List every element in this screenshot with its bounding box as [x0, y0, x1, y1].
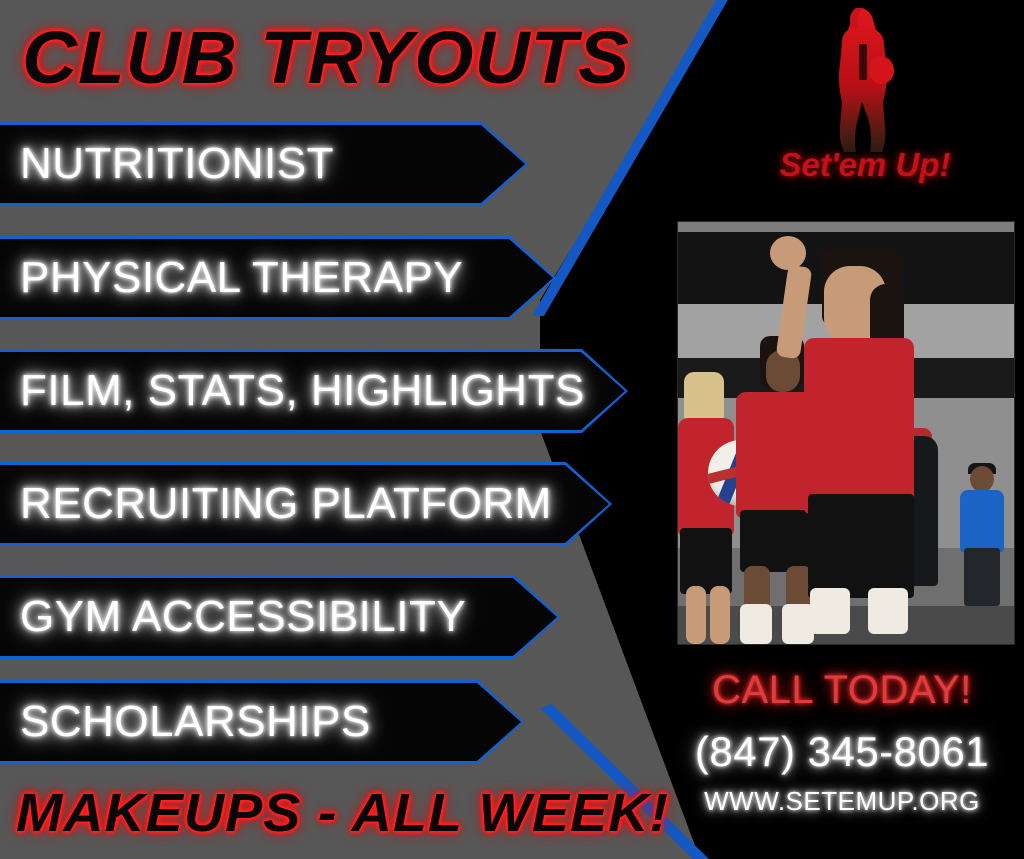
player-shorts	[808, 494, 914, 598]
referee-shirt	[960, 490, 1004, 552]
service-label: RECRUITING PLATFORM	[20, 479, 552, 529]
logo-caption: Set'em Up!	[740, 146, 990, 184]
service-label: PHYSICAL THERAPY	[20, 253, 463, 303]
club-logo: Set'em Up!	[740, 6, 990, 202]
player-jersey-front	[804, 338, 914, 514]
player-shorts	[740, 510, 818, 572]
service-label: GYM ACCESSIBILITY	[20, 592, 466, 642]
service-banner-nutritionist[interactable]: NUTRITIONIST	[0, 122, 528, 206]
website-url[interactable]: WWW.SETEMUP.ORG	[660, 786, 1024, 817]
footer-makeups-all-week: MAKEUPS - ALL WEEK!	[16, 784, 669, 842]
service-label: SCHOLARSHIPS	[20, 697, 371, 747]
club-tryouts-flyer: CLUB TRYOUTS NUTRITIONIST PHYSICAL THERA…	[0, 0, 1024, 859]
service-banner-physical-therapy[interactable]: PHYSICAL THERAPY	[0, 236, 556, 320]
service-banner-recruiting-platform[interactable]: RECRUITING PLATFORM	[0, 462, 612, 546]
volleyball-player-silhouette-icon	[818, 6, 914, 152]
knee-pad	[868, 588, 908, 634]
player-shorts	[680, 528, 732, 594]
service-banner-film-stats-highlights[interactable]: FILM, STATS, HIGHLIGHTS	[0, 349, 628, 433]
phone-number[interactable]: (847) 345-8061	[660, 728, 1024, 776]
volleyball-team-action-photo	[678, 222, 1014, 644]
referee-pants	[964, 548, 1000, 606]
service-banner-scholarships[interactable]: SCHOLARSHIPS	[0, 680, 524, 764]
knee-pad	[740, 604, 772, 644]
service-label: NUTRITIONIST	[20, 139, 334, 189]
call-today-heading: CALL TODAY!	[660, 668, 1024, 713]
headline-club-tryouts: CLUB TRYOUTS	[22, 18, 630, 98]
referee-head	[970, 466, 994, 492]
player-hand-raised	[770, 236, 806, 270]
player-leg	[686, 586, 706, 644]
player-leg	[710, 586, 730, 644]
knee-pad	[810, 588, 850, 634]
service-banner-gym-accessibility[interactable]: GYM ACCESSIBILITY	[0, 575, 560, 659]
service-label: FILM, STATS, HIGHLIGHTS	[20, 366, 585, 416]
